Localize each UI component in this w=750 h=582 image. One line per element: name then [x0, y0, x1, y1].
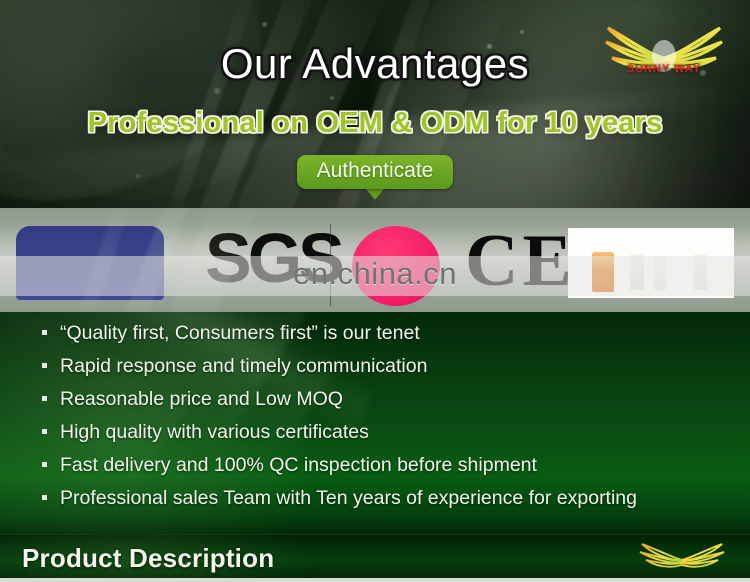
product-description-bar: Product Description [0, 534, 750, 582]
list-item: High quality with various certificates [42, 421, 740, 454]
watermark-text: en.china.cn [0, 256, 750, 292]
banner-header: Our Advantages Professional on OEM & ODM… [0, 0, 750, 208]
footer-divider [0, 578, 750, 582]
list-item: Fast delivery and 100% QC inspection bef… [42, 454, 740, 487]
wings-logo-icon [586, 14, 742, 92]
list-item: “Quality first, Consumers first” is our … [42, 322, 740, 355]
list-item: Reasonable price and Low MOQ [42, 388, 740, 421]
wings-logo-icon [628, 541, 736, 577]
list-item-label: Reasonable price and Low MOQ [60, 388, 343, 411]
list-item-label: “Quality first, Consumers first” is our … [60, 322, 420, 345]
bullet-icon [42, 363, 47, 368]
section-title: Product Description [22, 543, 274, 574]
bullet-icon [42, 462, 47, 467]
list-item-label: Professional sales Team with Ten years o… [60, 487, 637, 510]
list-item-label: Fast delivery and 100% QC inspection bef… [60, 454, 537, 477]
bokeh-dot [262, 22, 267, 27]
bokeh-dot [520, 30, 524, 34]
brand-logo-top: SUNNY WAY [586, 14, 742, 92]
list-item-label: High quality with various certificates [60, 421, 369, 444]
bokeh-dot [330, 96, 334, 100]
advantages-list: “Quality first, Consumers first” is our … [42, 322, 740, 520]
bullet-icon [42, 330, 47, 335]
brand-name: SUNNY WAY [586, 63, 742, 75]
list-item: Rapid response and timely communication [42, 355, 740, 388]
brand-logo-bottom [628, 541, 736, 577]
bullet-icon [42, 429, 47, 434]
bokeh-dot [214, 88, 220, 94]
advantages-banner: Our Advantages Professional on OEM & ODM… [0, 0, 750, 582]
advantages-body: “Quality first, Consumers first” is our … [0, 312, 750, 534]
bullet-icon [42, 495, 47, 500]
list-item-label: Rapid response and timely communication [60, 355, 427, 378]
bullet-icon [42, 396, 47, 401]
authenticate-group: Authenticate [0, 155, 750, 200]
list-item: Professional sales Team with Ten years o… [42, 487, 740, 520]
page-subtitle: Professional on OEM & ODM for 10 years [0, 107, 750, 140]
authenticate-button[interactable]: Authenticate [297, 155, 454, 189]
chevron-down-icon [366, 189, 384, 200]
